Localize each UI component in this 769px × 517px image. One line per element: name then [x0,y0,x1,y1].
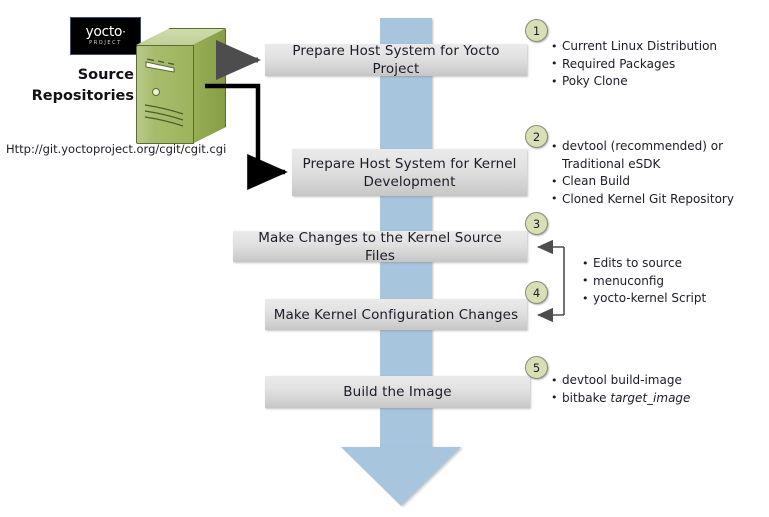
note-item: bitbake target_image [551,390,766,408]
notes-list-step-2: devtool (recommended) or Traditional eSD… [551,138,766,208]
server-led-icon [152,88,160,96]
step-number-4: 4 [525,281,548,304]
note-text: bitbake [562,391,610,405]
notes-list-step-1: Current Linux Distribution Required Pack… [551,38,766,91]
server-vent-icon [144,58,184,78]
yocto-project-logo: yocto· PROJECT [70,17,141,55]
notes-list-step-5: devtool build-image bitbake target_image [551,372,766,407]
process-box-prepare-host-kernel[interactable]: Prepare Host System for Kernel Developme… [292,149,527,196]
process-box-prepare-host-yocto[interactable]: Prepare Host System for Yocto Project [265,44,527,76]
note-item: Required Packages [551,56,766,74]
flow-arrow-head [341,447,461,506]
process-box-make-kernel-config-changes[interactable]: Make Kernel Configuration Changes [265,299,527,330]
note-item: menuconfig [582,273,767,291]
source-repositories-url: Http://git.yoctoproject.org/cgit/cgit.cg… [6,142,236,156]
notes-step-5: devtool build-image bitbake target_image [551,372,766,407]
step-number-5: 5 [525,356,548,379]
diagram-canvas: yocto· PROJECT Source Repositories Http:… [0,0,769,517]
logo-wordmark: yocto· [85,25,125,39]
logo-dot: · [122,25,125,39]
note-item: Current Linux Distribution [551,38,766,56]
note-item: Poky Clone [551,73,766,91]
step-number-3: 3 [525,212,548,235]
note-item: Cloned Kernel Git Repository [551,191,766,209]
process-box-build-the-image[interactable]: Build the Image [265,376,530,408]
step-number-2: 2 [525,125,548,148]
note-item: yocto-kernel Script [582,290,767,308]
notes-step-1: Current Linux Distribution Required Pack… [551,38,766,91]
notes-steps-3-and-4: Edits to source menuconfig yocto-kernel … [582,255,767,308]
server-grille-icon [143,103,187,129]
notes-step-2: devtool (recommended) or Traditional eSD… [551,138,766,208]
server-icon [136,28,228,144]
notes-list-steps-3-4: Edits to source menuconfig yocto-kernel … [582,255,767,308]
note-item: devtool build-image [551,372,766,390]
note-text-italic: target_image [610,391,690,405]
process-box-make-kernel-source-changes[interactable]: Make Changes to the Kernel Source Files [233,231,527,262]
step-number-1: 1 [525,19,548,42]
note-text: devtool build-image [562,373,682,387]
note-item: Clean Build [551,173,766,191]
note-item: Edits to source [582,255,767,273]
note-item: devtool (recommended) or Traditional eSD… [551,138,766,173]
logo-wordmark-text: yocto [85,24,122,40]
logo-subtext: PROJECT [89,40,122,47]
server-side-face [192,28,226,144]
source-repositories-label: Source Repositories [8,65,134,107]
